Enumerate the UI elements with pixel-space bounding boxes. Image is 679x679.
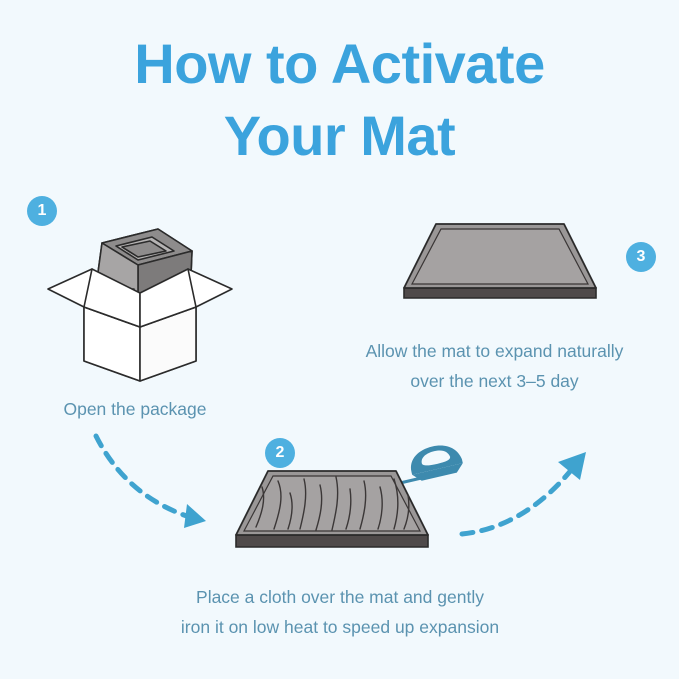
wrinkled-mat-icon bbox=[232, 465, 432, 562]
flat-mat-icon bbox=[400, 218, 600, 315]
step-badge-2: 2 bbox=[265, 438, 295, 468]
title-line-2: Your Mat bbox=[0, 100, 679, 172]
caption-line: over the next 3–5 day bbox=[310, 366, 679, 396]
step-1-caption: Open the package bbox=[10, 394, 260, 424]
cardboard-box-icon bbox=[40, 215, 240, 390]
step-2-caption: Place a cloth over the mat and gently ir… bbox=[60, 582, 620, 642]
caption-line: Allow the mat to expand naturally bbox=[310, 336, 679, 366]
arrow-step1-to-step2 bbox=[92, 432, 222, 537]
caption-line: Open the package bbox=[10, 394, 260, 424]
step-3-caption: Allow the mat to expand naturally over t… bbox=[310, 336, 679, 396]
caption-line: Place a cloth over the mat and gently bbox=[60, 582, 620, 612]
arrow-step2-to-step3 bbox=[458, 448, 598, 545]
caption-line: iron it on low heat to speed up expansio… bbox=[60, 612, 620, 642]
infographic-canvas: How to Activate Your Mat 1 bbox=[0, 0, 679, 679]
step-badge-3: 3 bbox=[626, 242, 656, 272]
title-line-1: How to Activate bbox=[0, 28, 679, 100]
page-title: How to Activate Your Mat bbox=[0, 28, 679, 172]
